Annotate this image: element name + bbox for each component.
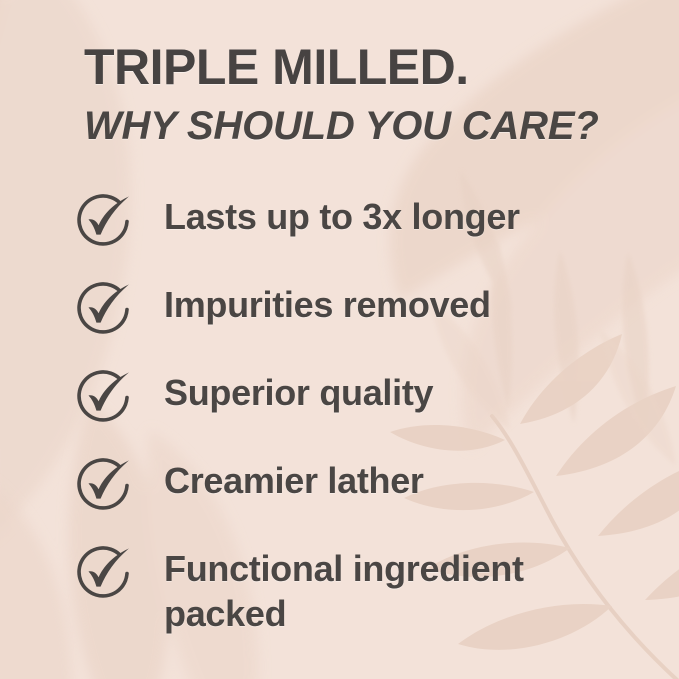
content-layer: TRIPLE MILLED. WHY SHOULD YOU CARE? Last… xyxy=(0,0,679,679)
list-item-label: Functional ingredient packed xyxy=(164,546,634,636)
check-circle-icon xyxy=(72,276,136,340)
list-item-label: Superior quality xyxy=(164,370,433,415)
check-circle-icon xyxy=(72,188,136,252)
benefit-list: Lasts up to 3x longer Impurities removed xyxy=(72,186,652,648)
list-item-label: Lasts up to 3x longer xyxy=(164,194,520,239)
check-circle-icon xyxy=(72,540,136,604)
list-item: Impurities removed xyxy=(72,274,652,362)
check-circle-icon xyxy=(72,364,136,428)
list-item: Lasts up to 3x longer xyxy=(72,186,652,274)
list-item-label: Impurities removed xyxy=(164,282,491,327)
page-title: TRIPLE MILLED. xyxy=(84,42,469,92)
list-item: Superior quality xyxy=(72,362,652,450)
list-item-label: Creamier lather xyxy=(164,458,424,503)
promo-graphic-canvas: TRIPLE MILLED. WHY SHOULD YOU CARE? Last… xyxy=(0,0,679,679)
check-circle-icon xyxy=(72,452,136,516)
page-subtitle: WHY SHOULD YOU CARE? xyxy=(84,106,599,146)
list-item: Creamier lather xyxy=(72,450,652,538)
list-item: Functional ingredient packed xyxy=(72,538,652,648)
